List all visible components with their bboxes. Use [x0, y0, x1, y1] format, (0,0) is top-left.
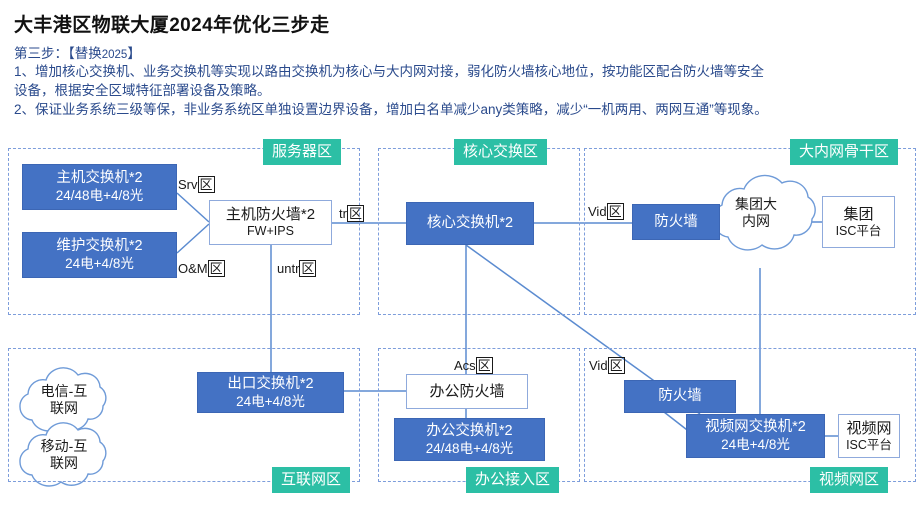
- link-label-tr-zone: 区: [347, 205, 364, 222]
- node-office-switch-line2: 24/48电+4/8光: [426, 441, 513, 457]
- link-label-tr: tr区: [339, 203, 364, 222]
- link-label-vid-top-text: Vid: [588, 204, 607, 219]
- link-label-untr-zone: 区: [299, 260, 316, 277]
- step-label-prefix: 第三步：【替换: [14, 46, 102, 61]
- node-host-firewall[interactable]: 主机防火墙*2 FW+IPS: [209, 200, 332, 245]
- cloud-group-intranet-line1: 集团大: [716, 196, 796, 213]
- cloud-label-group-intranet: 集团大 内网: [716, 196, 796, 230]
- node-office-firewall[interactable]: 办公防火墙: [406, 374, 528, 409]
- link-label-srv: Srv区: [178, 174, 215, 193]
- node-core-switch-label: 核心交换机*2: [427, 215, 513, 232]
- link-label-untr-text: untr: [277, 261, 299, 276]
- step-label-suffix: 】: [127, 46, 141, 61]
- description-line-2: 设备，根据安全区域特征部署设备及策略。: [14, 81, 914, 100]
- node-exit-switch-line1: 出口交换机*2: [227, 376, 313, 393]
- node-video-firewall[interactable]: 防火墙: [624, 380, 736, 413]
- link-label-om-zone: 区: [208, 260, 225, 277]
- zone-label-internet: 互联网区: [272, 467, 350, 493]
- node-video-switch-line1: 视频网交换机*2: [705, 419, 806, 436]
- link-label-acs-text: Acs: [454, 358, 476, 373]
- node-office-firewall-label: 办公防火墙: [429, 383, 504, 400]
- node-video-firewall-label: 防火墙: [658, 388, 702, 405]
- node-host-firewall-line2: FW+IPS: [247, 224, 294, 238]
- link-label-vid-bottom: Vid区: [589, 355, 625, 374]
- node-host-switch-line2: 24/48电+4/8光: [56, 188, 143, 204]
- node-office-switch-line1: 办公交换机*2: [426, 423, 512, 440]
- link-label-acs-zone: 区: [476, 357, 493, 374]
- slide-canvas: 大丰港区物联大厦2024年优化三步走 第三步：【替换2025】 1、增加核心交换…: [0, 0, 924, 520]
- node-host-switch-line1: 主机交换机*2: [56, 170, 142, 187]
- node-video-switch[interactable]: 视频网交换机*2 24电+4/8光: [686, 414, 825, 458]
- zone-label-video: 视频网区: [810, 467, 888, 493]
- node-maint-switch-line2: 24电+4/8光: [65, 256, 134, 272]
- link-label-vid-bottom-text: Vid: [589, 358, 608, 373]
- description-block: 1、增加核心交换机、业务交换机等实现以路由交换机为核心与大内网对接，弱化防火墙核…: [14, 62, 914, 119]
- cloud-mobile-line2: 联网: [24, 455, 104, 472]
- zone-label-core: 核心交换区: [454, 139, 547, 165]
- node-maint-switch[interactable]: 维护交换机*2 24电+4/8光: [22, 232, 177, 278]
- cloud-group-intranet-line2: 内网: [716, 213, 796, 230]
- description-line-3: 2、保证业务系统三级等保，非业务系统区单独设置边界设备，增加白名单减少any类策…: [14, 100, 914, 119]
- node-video-isc-platform[interactable]: 视频网 ISC平台: [838, 414, 900, 458]
- cloud-label-telecom: 电信-互 联网: [24, 383, 104, 417]
- node-video-isc-line2: ISC平台: [846, 438, 892, 452]
- link-label-srv-text: Srv: [178, 177, 198, 192]
- link-label-om: O&M区: [178, 258, 225, 277]
- node-office-switch[interactable]: 办公交换机*2 24/48电+4/8光: [394, 418, 545, 461]
- link-label-om-text: O&M: [178, 261, 208, 276]
- description-line-1: 1、增加核心交换机、业务交换机等实现以路由交换机为核心与大内网对接，弱化防火墙核…: [14, 62, 914, 81]
- node-video-switch-line2: 24电+4/8光: [721, 437, 790, 453]
- link-label-vid-top-zone: 区: [607, 203, 624, 220]
- cloud-telecom-line2: 联网: [24, 400, 104, 417]
- node-group-isc-line1: 集团: [843, 206, 873, 223]
- node-backbone-firewall[interactable]: 防火墙: [632, 204, 720, 240]
- step-subheading: 第三步：【替换2025】: [14, 42, 141, 62]
- link-label-srv-zone: 区: [198, 176, 215, 193]
- cloud-telecom-line1: 电信-互: [24, 383, 104, 400]
- zone-label-server: 服务器区: [263, 139, 341, 165]
- step-year: 2025: [102, 49, 128, 61]
- link-label-untr: untr区: [277, 258, 316, 277]
- link-label-vid-bottom-zone: 区: [608, 357, 625, 374]
- zone-label-office: 办公接入区: [466, 467, 559, 493]
- cloud-mobile-line1: 移动-互: [24, 438, 104, 455]
- node-host-switch[interactable]: 主机交换机*2 24/48电+4/8光: [22, 164, 177, 210]
- link-label-acs: Acs区: [454, 355, 493, 374]
- node-core-switch[interactable]: 核心交换机*2: [406, 202, 534, 245]
- node-backbone-firewall-label: 防火墙: [654, 214, 698, 231]
- node-exit-switch[interactable]: 出口交换机*2 24电+4/8光: [197, 372, 344, 413]
- link-label-tr-text: tr: [339, 206, 347, 221]
- node-host-firewall-line1: 主机防火墙*2: [226, 206, 315, 223]
- page-title: 大丰港区物联大厦2024年优化三步走: [14, 10, 329, 37]
- node-maint-switch-line1: 维护交换机*2: [56, 238, 142, 255]
- link-label-vid-top: Vid区: [588, 201, 624, 220]
- node-video-isc-line1: 视频网: [846, 420, 891, 437]
- node-group-isc-line2: ISC平台: [836, 224, 882, 238]
- cloud-label-mobile: 移动-互 联网: [24, 438, 104, 472]
- node-group-isc-platform[interactable]: 集团 ISC平台: [822, 196, 895, 248]
- node-exit-switch-line2: 24电+4/8光: [236, 394, 305, 410]
- zone-label-backbone: 大内网骨干区: [790, 139, 898, 165]
